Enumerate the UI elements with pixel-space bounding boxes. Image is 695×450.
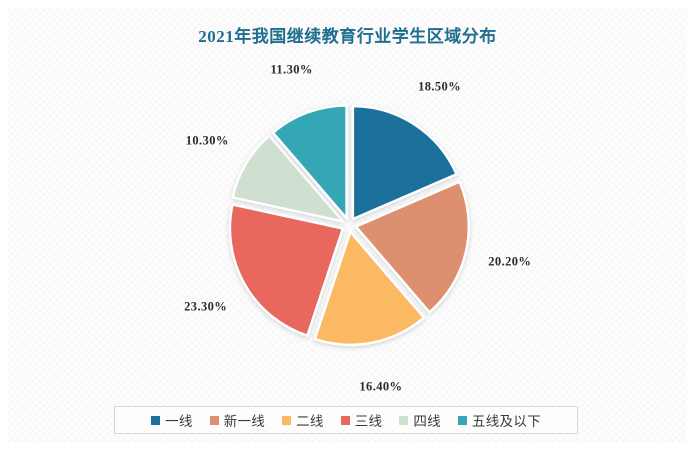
legend-swatch-icon xyxy=(458,416,467,425)
pie-data-label: 10.30% xyxy=(186,133,229,148)
legend-item-label: 四线 xyxy=(413,410,441,430)
legend-item[interactable]: 一线 xyxy=(151,410,193,430)
legend-item[interactable]: 二线 xyxy=(282,410,324,430)
chart-canvas: 2021年我国继续教育行业学生区域分布 18.50%20.20%16.40%23… xyxy=(8,8,687,442)
pie-svg xyxy=(8,8,687,442)
pie-slice-group xyxy=(230,105,469,344)
legend-swatch-icon xyxy=(282,416,291,425)
pie-data-label: 16.40% xyxy=(359,379,402,394)
chart-legend: 一线新一线二线三线四线五线及以下 xyxy=(114,406,578,434)
legend-item[interactable]: 三线 xyxy=(341,410,383,430)
legend-item-label: 五线及以下 xyxy=(472,410,541,430)
legend-swatch-icon xyxy=(210,416,219,425)
legend-swatch-icon xyxy=(399,416,408,425)
legend-swatch-icon xyxy=(341,416,350,425)
pie-data-label: 18.50% xyxy=(418,80,461,95)
legend-swatch-icon xyxy=(151,416,160,425)
legend-item-label: 三线 xyxy=(355,410,383,430)
legend-item[interactable]: 五线及以下 xyxy=(458,410,541,430)
pie-data-label: 11.30% xyxy=(270,63,312,78)
legend-item-label: 新一线 xyxy=(224,410,265,430)
pie-data-label: 23.30% xyxy=(184,299,227,314)
legend-item-label: 一线 xyxy=(165,410,193,430)
legend-item[interactable]: 四线 xyxy=(399,410,441,430)
pie-data-label: 20.20% xyxy=(488,255,531,270)
legend-item[interactable]: 新一线 xyxy=(210,410,265,430)
pie-chart: 18.50%20.20%16.40%23.30%10.30%11.30% xyxy=(8,8,687,442)
legend-item-label: 二线 xyxy=(296,410,324,430)
